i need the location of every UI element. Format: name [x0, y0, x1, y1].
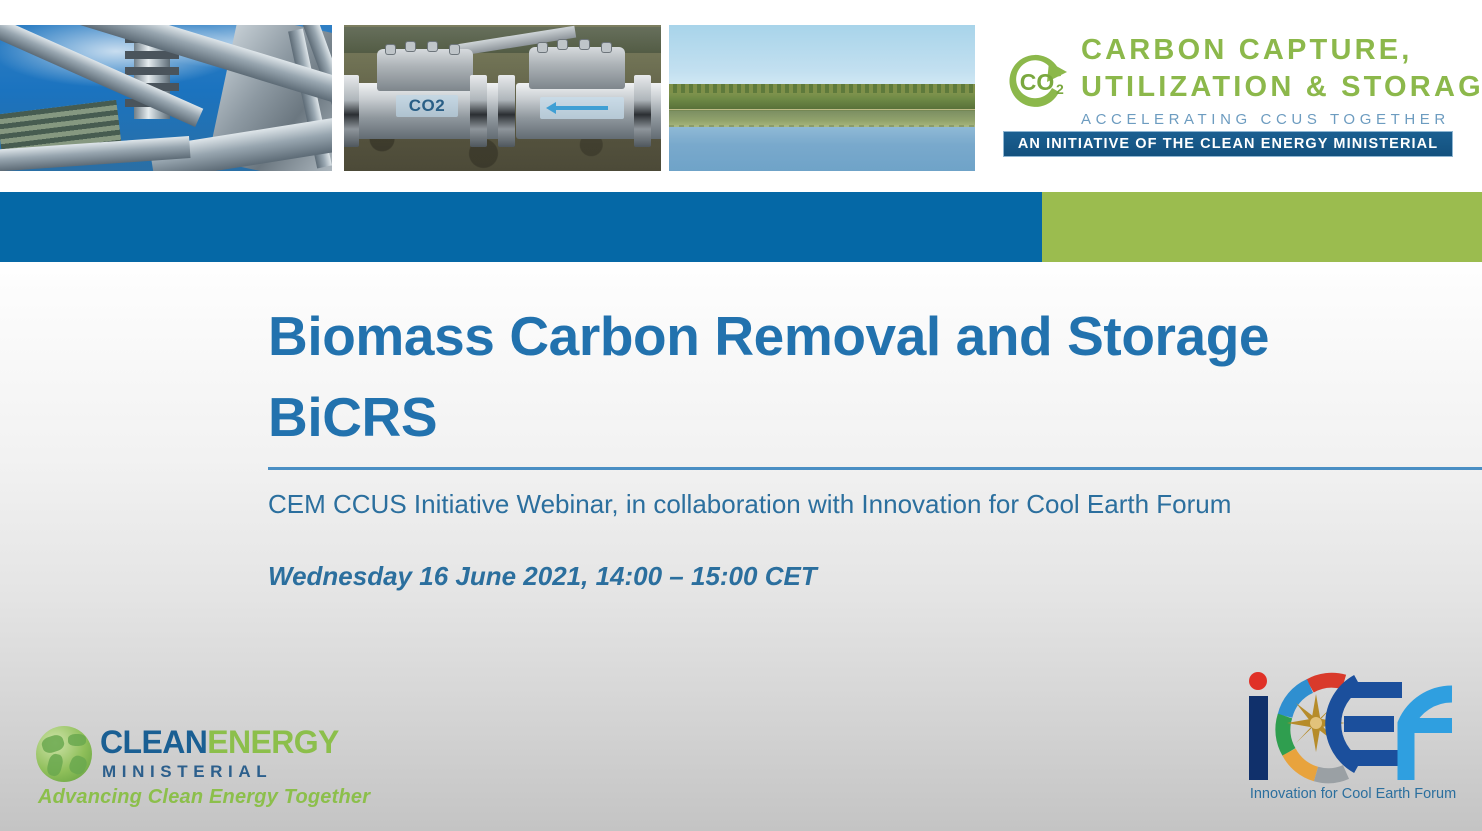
co2-recycling-loop-icon: CO 2 — [1001, 46, 1073, 118]
cem-word-energy: ENERGY — [207, 724, 339, 760]
industrial-refinery-pipes-photo — [0, 25, 332, 171]
flow-arrow-icon — [540, 97, 624, 119]
cem-initiative-banner: AN INITIATIVE OF THE CLEAN ENERGY MINIST… — [1003, 131, 1453, 157]
cem-word-clean: CLEAN — [100, 724, 207, 760]
title-slide: CO2 CO 2 CARBON CAPTURE, UTILIZATION & S… — [0, 0, 1482, 831]
ccus-logo-line2: UTILIZATION & STORAGE — [1081, 73, 1482, 102]
icef-wordmark-icon — [1240, 668, 1462, 786]
band-blue-segment — [0, 192, 1042, 262]
cem-word-ministerial: MINISTERIAL — [102, 762, 272, 782]
ccus-logo-tagline: ACCELERATING CCUS TOGETHER — [1081, 111, 1482, 128]
ccus-logo-line1: CARBON CAPTURE, — [1081, 36, 1482, 65]
co2-pipeline-valves-photo: CO2 — [344, 25, 661, 171]
icef-logo: Innovation for Cool Earth Forum — [1232, 668, 1470, 818]
slide-datetime: Wednesday 16 June 2021, 14:00 – 15:00 CE… — [268, 561, 1168, 592]
green-globe-icon — [36, 726, 92, 782]
title-divider-rule — [268, 467, 1482, 470]
co2-pipe-label: CO2 — [396, 95, 458, 117]
svg-text:CO: CO — [1020, 69, 1055, 95]
ccus-logo: CO 2 CARBON CAPTURE, UTILIZATION & STORA… — [1001, 30, 1453, 158]
slide-title: Biomass Carbon Removal and Storage BiCRS — [268, 296, 1388, 459]
clean-energy-ministerial-logo: CLEANENERGY MINISTERIAL Advancing Clean … — [34, 722, 374, 814]
svg-text:2: 2 — [1056, 81, 1064, 97]
slide-subtitle: CEM CCUS Initiative Webinar, in collabor… — [268, 487, 1448, 522]
accent-color-band — [0, 192, 1482, 262]
icef-tagline: Innovation for Cool Earth Forum — [1238, 786, 1468, 802]
forest-lake-reflection-photo — [669, 25, 975, 171]
band-green-segment — [1042, 192, 1482, 262]
cem-tagline: Advancing Clean Energy Together — [38, 786, 370, 809]
